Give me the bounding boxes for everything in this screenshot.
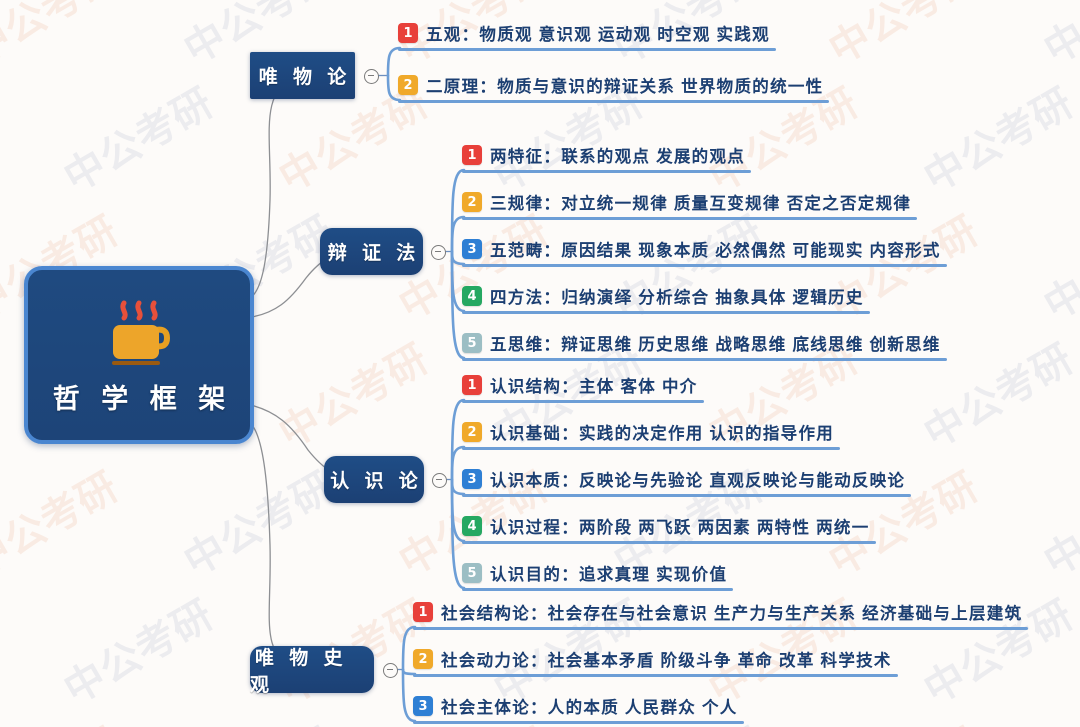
leaf-item[interactable]: 5认识目的：追求真理 实现价值 [462, 558, 727, 588]
item-number-badge: 1 [462, 375, 482, 395]
leaf-text: 社会主体论：人的本质 人民群众 个人 [441, 694, 738, 718]
leaf-text: 社会结构论：社会存在与社会意识 生产力与生产关系 经济基础与上层建筑 [441, 600, 1022, 624]
leaf-item[interactable]: 1社会结构论：社会存在与社会意识 生产力与生产关系 经济基础与上层建筑 [413, 597, 1022, 627]
item-number-badge: 3 [413, 696, 433, 716]
leaf-underline [398, 48, 776, 51]
leaf-item[interactable]: 5五思维：辩证思维 历史思维 战略思维 底线思维 创新思维 [462, 328, 941, 358]
leaf-item[interactable]: 4四方法：归纳演绎 分析综合 抽象具体 逻辑历史 [462, 281, 864, 311]
item-number-badge: 2 [398, 75, 418, 95]
item-number-badge: 2 [462, 192, 482, 212]
leaf-item[interactable]: 2二原理：物质与意识的辩证关系 世界物质的统一性 [398, 70, 823, 100]
leaf-text: 认识结构：主体 客体 中介 [490, 373, 698, 397]
branch-node-1[interactable]: 辩 证 法 [320, 228, 423, 275]
item-number-badge: 1 [398, 23, 418, 43]
collapse-toggle-3[interactable] [383, 663, 398, 678]
leaf-text: 五思维：辩证思维 历史思维 战略思维 底线思维 创新思维 [490, 331, 941, 355]
item-number-badge: 2 [413, 649, 433, 669]
leaf-text: 两特征：联系的观点 发展的观点 [490, 143, 745, 167]
leaf-underline [413, 674, 898, 677]
item-number-badge: 1 [462, 145, 482, 165]
wire-to-branch-0 [246, 76, 297, 300]
leaf-text: 认识基础：实践的决定作用 认识的指导作用 [490, 420, 834, 444]
coffee-cup-icon [101, 297, 177, 371]
center-label: 哲 学 框 架 [46, 377, 233, 416]
leaf-item[interactable]: 2认识基础：实践的决定作用 认识的指导作用 [462, 417, 834, 447]
mindmap-canvas: 中公考研中公考研中公考研中公考研中公考研中公考研中公考研中公考研中公考研中公考研… [0, 0, 1080, 727]
leaf-underline [462, 264, 947, 267]
branch-node-2[interactable]: 认 识 论 [324, 456, 424, 503]
collapse-toggle-0[interactable] [364, 69, 379, 84]
leaf-underline [462, 447, 840, 450]
leaf-item[interactable]: 1认识结构：主体 客体 中介 [462, 370, 698, 400]
leaf-underline [462, 541, 876, 544]
collapse-toggle-1[interactable] [431, 245, 446, 260]
leaf-text: 社会动力论：社会基本矛盾 阶级斗争 革命 改革 科学技术 [441, 647, 892, 671]
leaf-underline [413, 721, 744, 724]
branch-node-3[interactable]: 唯 物 史 观 [250, 646, 374, 693]
item-number-badge: 4 [462, 516, 482, 536]
leaf-item[interactable]: 4认识过程：两阶段 两飞跃 两因素 两特性 两统一 [462, 511, 870, 541]
leaf-item[interactable]: 3社会主体论：人的本质 人民群众 个人 [413, 691, 738, 721]
leaf-underline [462, 358, 947, 361]
leaf-text: 认识目的：追求真理 实现价值 [490, 561, 727, 585]
branch-node-0[interactable]: 唯 物 论 [250, 52, 355, 99]
item-number-badge: 1 [413, 602, 433, 622]
leaf-underline [462, 494, 911, 497]
leaf-item[interactable]: 2社会动力论：社会基本矛盾 阶级斗争 革命 改革 科学技术 [413, 644, 892, 674]
leaf-text: 三规律：对立统一规律 质量互变规律 否定之否定规律 [490, 190, 911, 214]
center-node[interactable]: 哲 学 框 架 [24, 266, 254, 444]
branch-label: 认 识 论 [325, 466, 423, 493]
leaf-text: 四方法：归纳演绎 分析综合 抽象具体 逻辑历史 [490, 284, 864, 308]
leaf-text: 五观：物质观 意识观 运动观 时空观 实践观 [426, 21, 770, 45]
item-number-badge: 3 [462, 239, 482, 259]
wire-to-branch-3 [246, 420, 298, 669]
leaf-item[interactable]: 1两特征：联系的观点 发展的观点 [462, 140, 745, 170]
leaf-underline [462, 217, 917, 220]
leaf-underline [413, 627, 1028, 630]
collapse-toggle-2[interactable] [432, 473, 447, 488]
leaf-text: 认识过程：两阶段 两飞跃 两因素 两特性 两统一 [490, 514, 870, 538]
leaf-text: 二原理：物质与意识的辩证关系 世界物质的统一性 [426, 73, 823, 97]
leaf-underline [398, 100, 829, 103]
leaf-underline [462, 400, 704, 403]
leaf-underline [462, 170, 751, 173]
branch-label: 唯 物 论 [254, 62, 352, 89]
item-number-badge: 5 [462, 333, 482, 353]
item-number-badge: 3 [462, 469, 482, 489]
branch-label: 辩 证 法 [323, 238, 421, 265]
branch-label: 唯 物 史 观 [250, 643, 374, 697]
leaf-text: 五范畴：原因结果 现象本质 必然偶然 可能现实 内容形式 [490, 237, 941, 261]
leaf-item[interactable]: 3认识本质：反映论与先验论 直观反映论与能动反映论 [462, 464, 905, 494]
leaf-underline [462, 311, 870, 314]
leaf-item[interactable]: 2三规律：对立统一规律 质量互变规律 否定之否定规律 [462, 187, 911, 217]
item-number-badge: 2 [462, 422, 482, 442]
item-number-badge: 5 [462, 563, 482, 583]
item-number-badge: 4 [462, 286, 482, 306]
leaf-item[interactable]: 3五范畴：原因结果 现象本质 必然偶然 可能现实 内容形式 [462, 234, 941, 264]
leaf-item[interactable]: 1五观：物质观 意识观 运动观 时空观 实践观 [398, 18, 770, 48]
leaf-underline [462, 588, 733, 591]
leaf-text: 认识本质：反映论与先验论 直观反映论与能动反映论 [490, 467, 905, 491]
